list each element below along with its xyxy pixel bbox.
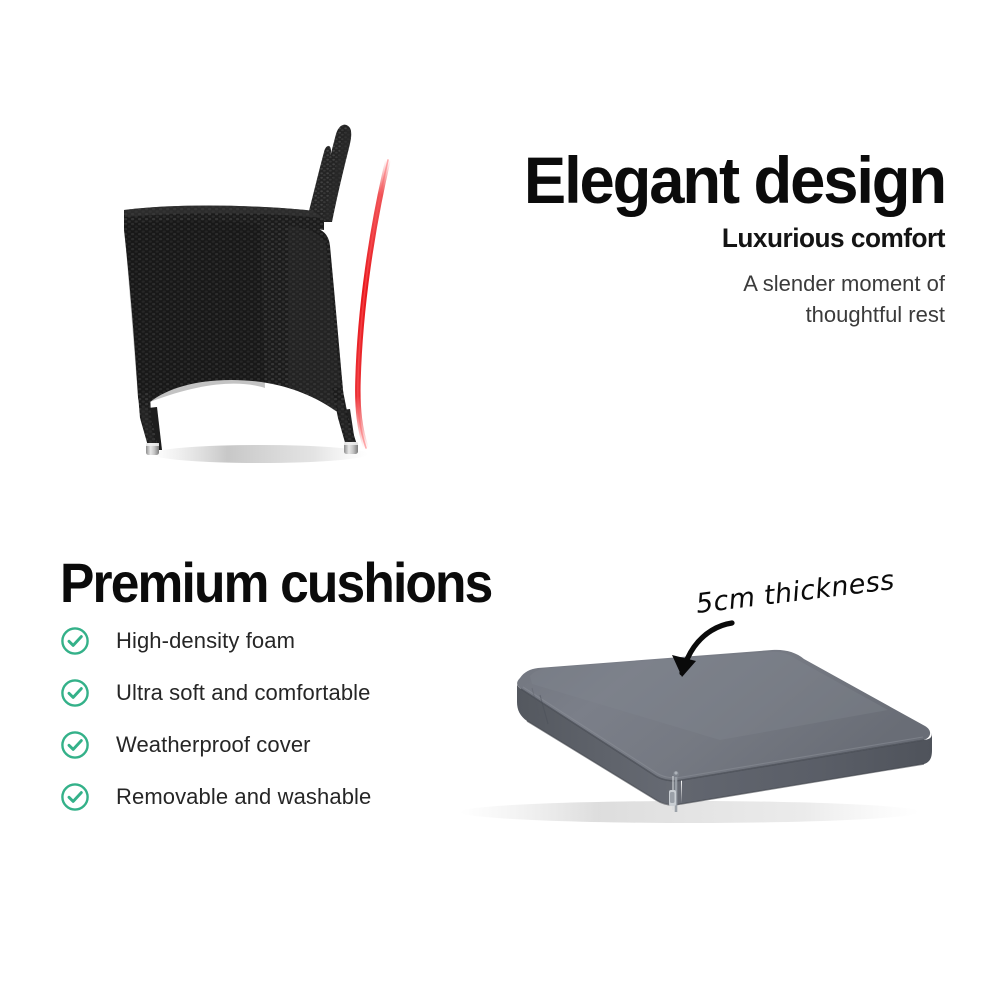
feature-label: Weatherproof cover: [116, 732, 311, 758]
check-circle-icon: [60, 730, 90, 760]
infographic-page: Elegant design Luxurious comfort A slend…: [0, 0, 1000, 1000]
hero-text-block: Elegant design Luxurious comfort A slend…: [475, 148, 945, 330]
supporting-copy: A slender moment of thoughtful rest: [475, 269, 945, 330]
feature-item: High-density foam: [60, 615, 480, 667]
chair-product-image: [110, 118, 430, 478]
feature-item: Removable and washable: [60, 771, 480, 823]
feature-label: Removable and washable: [116, 784, 371, 810]
feature-label: High-density foam: [116, 628, 295, 654]
feature-label: Ultra soft and comfortable: [116, 680, 371, 706]
supporting-line-2: thoughtful rest: [475, 300, 945, 330]
check-circle-icon: [60, 678, 90, 708]
premium-cushions-section: Premium cushions High-density foam: [0, 500, 1000, 1000]
elegant-design-section: Elegant design Luxurious comfort A slend…: [0, 0, 1000, 500]
check-circle-icon: [60, 782, 90, 812]
feature-list: High-density foam Ultra soft and comfort…: [60, 615, 480, 823]
thickness-annotation: 5cm thickness: [620, 585, 980, 695]
feature-item: Ultra soft and comfortable: [60, 667, 480, 719]
subheadline-luxurious-comfort: Luxurious comfort: [489, 222, 945, 256]
check-circle-icon: [60, 626, 90, 656]
supporting-line-1: A slender moment of: [475, 269, 945, 299]
feature-item: Weatherproof cover: [60, 719, 480, 771]
headline-elegant-design: Elegant design: [494, 148, 945, 213]
section-title-premium-cushions: Premium cushions: [60, 550, 492, 615]
